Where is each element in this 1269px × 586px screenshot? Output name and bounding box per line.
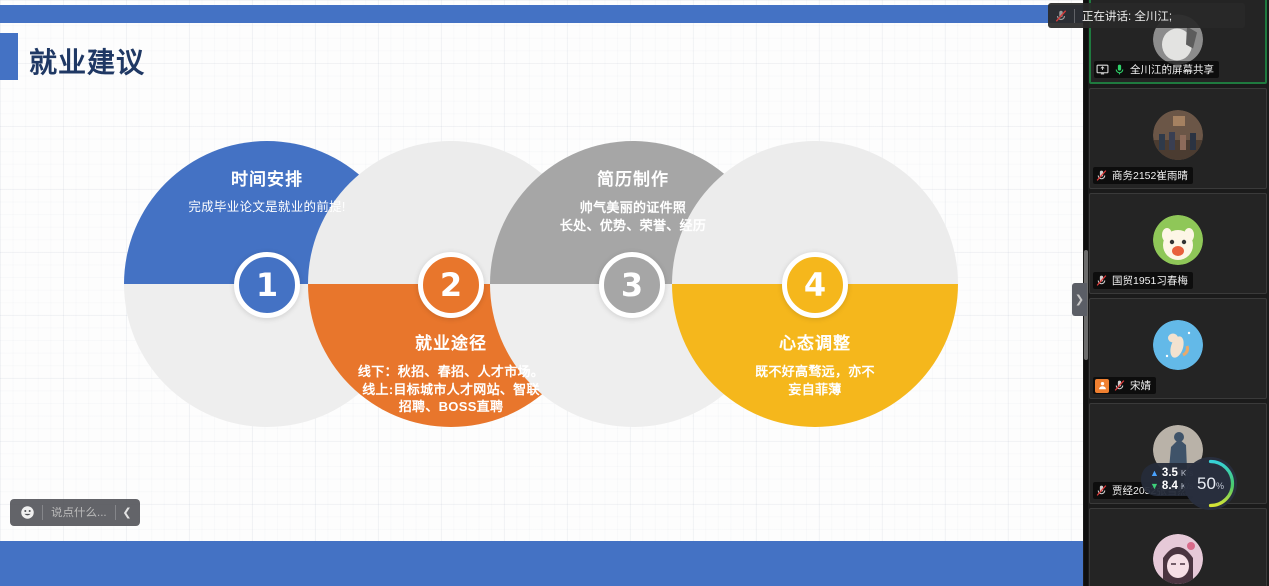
participant-label: 国贸1951习春梅 xyxy=(1093,272,1193,289)
participant-label: 商务2152崔雨晴 xyxy=(1093,167,1193,184)
participant-label: 宋婧 xyxy=(1093,377,1156,394)
cpu-usage-ring: 50% xyxy=(1184,457,1237,510)
chat-input[interactable] xyxy=(43,507,115,519)
participant-name: 全川江的屏幕共享 xyxy=(1130,62,1214,77)
download-speed-value: 8.4 xyxy=(1162,480,1178,492)
mic-muted-icon xyxy=(1113,379,1126,392)
participant-tile[interactable]: 国贸1951习春梅 xyxy=(1089,193,1267,294)
network-stats-widget[interactable]: ▲ 3.5 K/s ▼ 8.4 K/s 5 xyxy=(1141,463,1219,496)
mic-muted-icon xyxy=(1095,274,1108,287)
smiley-icon[interactable] xyxy=(12,499,42,526)
avatar xyxy=(1153,534,1203,584)
participant-tile[interactable]: 宋婧 xyxy=(1089,298,1267,399)
circle-3-number-badge: 3 xyxy=(599,252,665,318)
participant-name: 国贸1951习春梅 xyxy=(1112,273,1188,288)
mic-muted-icon xyxy=(1095,484,1108,497)
screen-share-icon xyxy=(1096,63,1109,76)
mic-on-icon xyxy=(1113,63,1126,76)
speaking-text: 正在讲话: 全川江; xyxy=(1082,8,1172,24)
participant-tile[interactable]: 商务2152崔雨晴 xyxy=(1089,88,1267,189)
meeting-window: 就业建议 xyxy=(0,0,1269,586)
chat-input-bar[interactable]: ❮ xyxy=(10,499,140,526)
upload-arrow-icon: ▲ xyxy=(1150,469,1159,478)
slide-footer-bar xyxy=(0,541,1083,586)
avatar xyxy=(1153,215,1203,265)
shared-screen-area[interactable]: 就业建议 xyxy=(0,0,1083,586)
mic-muted-icon xyxy=(1054,9,1067,22)
circle-1-number-badge: 1 xyxy=(234,252,300,318)
participant-name: 宋婧 xyxy=(1130,378,1151,393)
presentation-slide: 就业建议 xyxy=(0,0,1083,541)
circle-2-number-badge: 2 xyxy=(418,252,484,318)
participant-name: 商务2152崔雨晴 xyxy=(1112,168,1188,183)
chevron-left-icon[interactable]: ❮ xyxy=(116,499,138,526)
download-arrow-icon: ▼ xyxy=(1150,482,1159,491)
cpu-usage-value: 50% xyxy=(1197,474,1224,494)
circle-4-number-badge: 4 xyxy=(782,252,848,318)
speaking-banner: 正在讲话: 全川江; xyxy=(1048,3,1245,28)
venn-diagram: 时间安排 完成毕业论文是就业的前提! 就业途径 线下：秋招、春招、人才市场。 线… xyxy=(0,0,1083,541)
chevron-right-icon[interactable]: ❯ xyxy=(1072,283,1087,316)
upload-speed-value: 3.5 xyxy=(1162,467,1178,479)
avatar xyxy=(1153,110,1203,160)
mic-muted-icon xyxy=(1095,169,1108,182)
participants-sidebar[interactable]: 全川江的屏幕共享 xyxy=(1087,0,1269,586)
participant-tile[interactable] xyxy=(1089,508,1267,586)
participant-label: 全川江的屏幕共享 xyxy=(1094,61,1219,78)
host-icon xyxy=(1095,379,1109,393)
avatar xyxy=(1153,320,1203,370)
banner-divider xyxy=(1074,9,1075,23)
